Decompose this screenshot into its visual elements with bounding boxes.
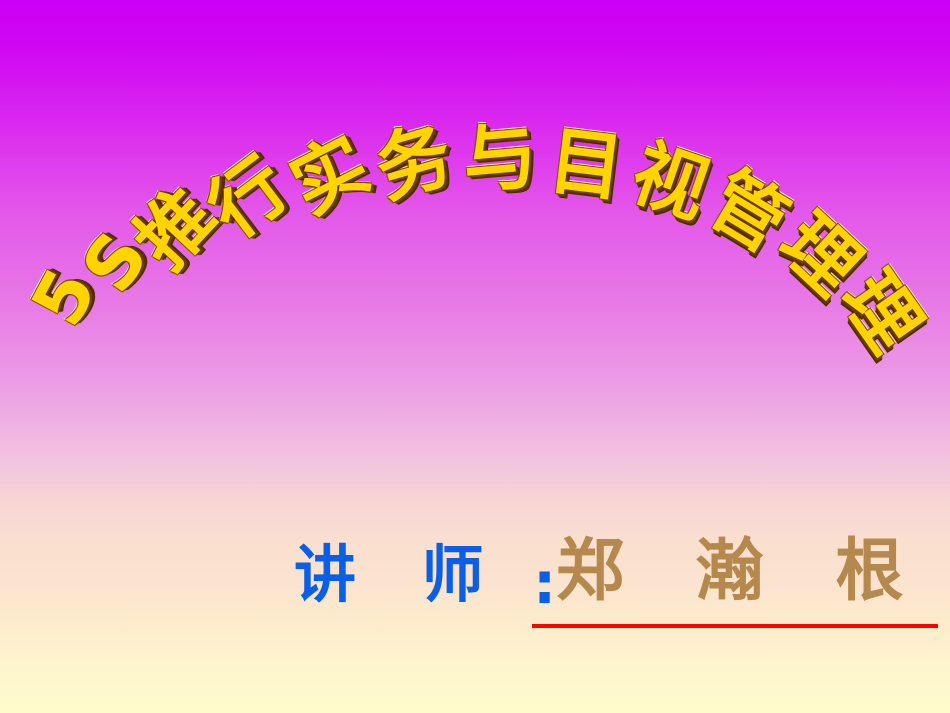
- title-char: 目: [545, 124, 627, 206]
- title-char: 管: [697, 161, 799, 263]
- title-char: S: [65, 212, 165, 312]
- title-char: 实: [280, 126, 380, 226]
- title-char: 务: [368, 117, 460, 209]
- title-char: 理: [768, 203, 873, 308]
- presenter-underline: [532, 624, 938, 628]
- title-char: 推: [124, 177, 229, 282]
- title-char: 理: [829, 260, 932, 363]
- title-char: 5: [15, 248, 112, 345]
- title-char: 与: [460, 119, 540, 199]
- presenter-separator: :: [533, 554, 556, 612]
- presenter-name: 郑 瀚 根: [556, 538, 927, 606]
- presenter-block: 讲 师 : 郑 瀚 根: [280, 536, 950, 646]
- presenter-role-label: 讲 师: [294, 544, 506, 606]
- title-char: 行: [197, 146, 301, 250]
- title-char: 视: [623, 135, 717, 229]
- title-slide: 5S推行实务与目视管理理 讲 师 : 郑 瀚 根: [0, 0, 950, 713]
